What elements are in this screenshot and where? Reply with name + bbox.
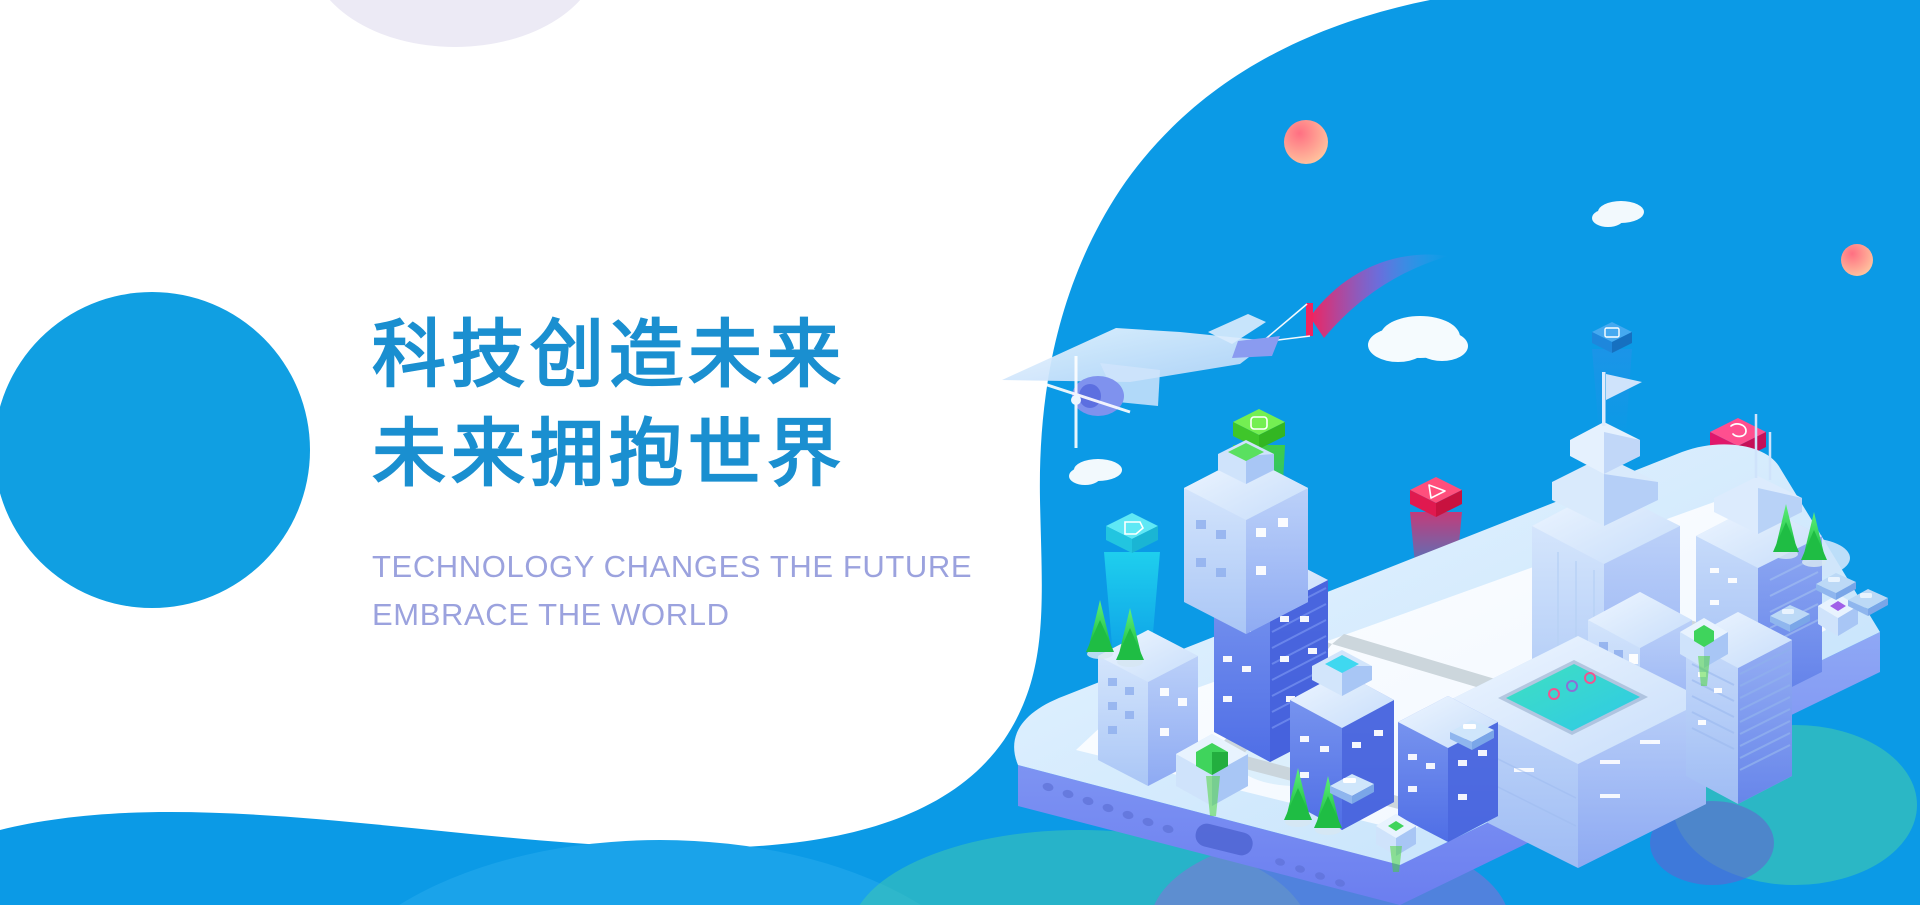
right-front-building [1398, 696, 1498, 842]
subtitle-line-1: TECHNOLOGY CHANGES THE FUTURE [372, 543, 1072, 591]
smart-city-illustration [980, 60, 1920, 905]
cloud-center [1368, 316, 1468, 362]
subtitle-block: TECHNOLOGY CHANGES THE FUTURE EMBRACE TH… [372, 543, 1072, 639]
headline-line-2: 未来拥抱世界 [372, 404, 1072, 503]
banner-mast [1306, 303, 1313, 336]
headline-line-1: 科技创造未来 [372, 305, 1072, 404]
banner-lines [1262, 304, 1310, 342]
green-roof-building [1184, 440, 1308, 634]
headline-block: 科技创造未来 未来拥抱世界 TECHNOLOGY CHANGES THE FUT… [372, 305, 1072, 639]
sun-sphere-left [1284, 120, 1328, 164]
left-accent-circle [0, 292, 310, 608]
sun-sphere-right [1841, 244, 1873, 276]
page-title: 科技创造未来 未来拥抱世界 [372, 305, 1072, 503]
cloud-left [1069, 459, 1122, 485]
cloud-right [1592, 201, 1644, 227]
subtitle-line-2: EMBRACE THE WORLD [372, 591, 1072, 639]
banner-stage: 科技创造未来 未来拥抱世界 TECHNOLOGY CHANGES THE FUT… [0, 0, 1920, 905]
